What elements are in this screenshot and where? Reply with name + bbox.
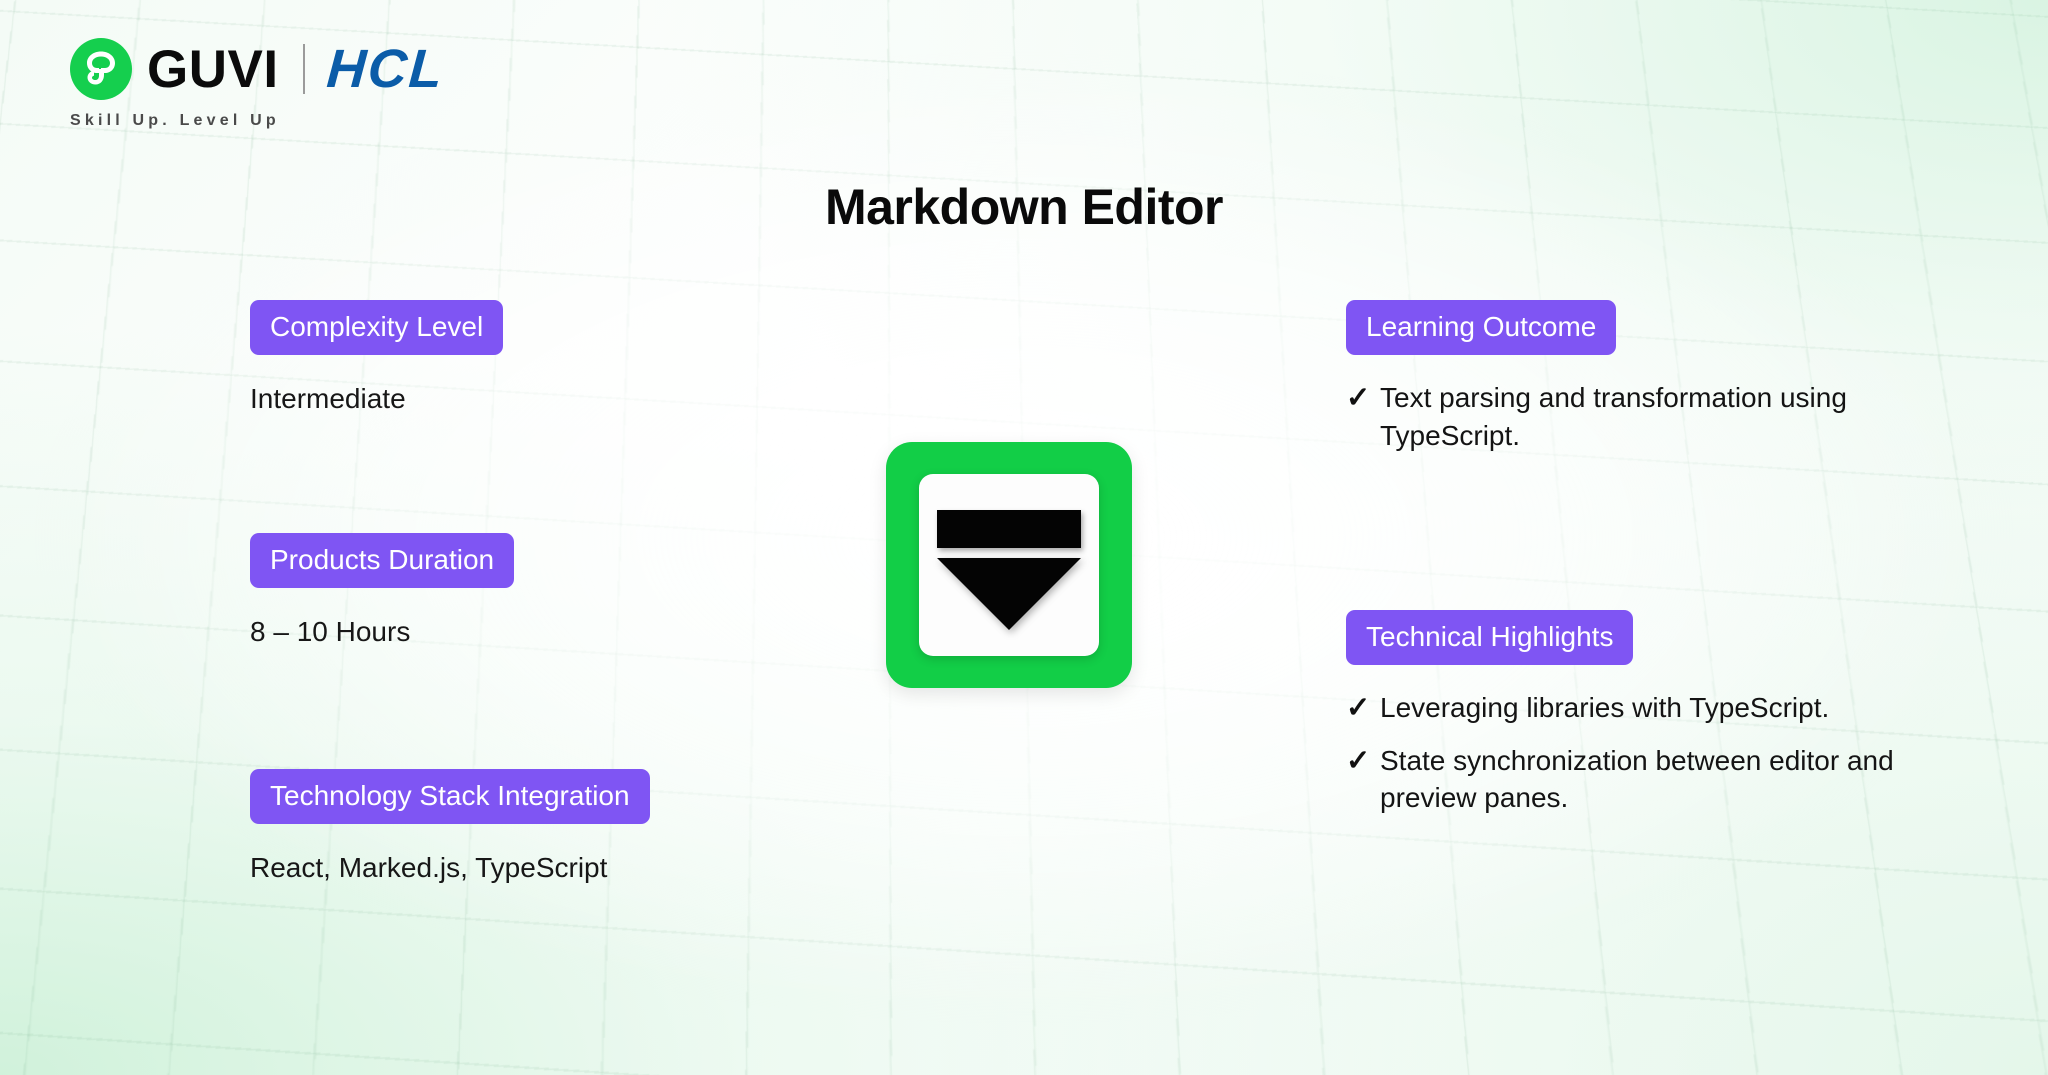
brand-row: GUVI HCL [70,38,444,100]
list-technical-highlights: ✓ Leveraging libraries with TypeScript. … [1346,689,1986,816]
badge-technical-highlights: Technical Highlights [1346,610,1633,665]
download-triangle-shape [937,558,1081,630]
brand-divider [303,44,305,94]
list-item: ✓ Text parsing and transformation using … [1346,379,1986,453]
right-column: Learning Outcome ✓ Text parsing and tran… [1346,300,1986,832]
list-item-text: State synchronization between editor and… [1380,742,1940,816]
check-icon: ✓ [1346,742,1380,781]
spacer [250,418,870,533]
block-products-duration: Products Duration 8 – 10 Hours [250,533,870,651]
download-markdown-icon [886,442,1132,688]
value-complexity-level: Intermediate [250,381,870,417]
check-icon: ✓ [1346,689,1380,728]
badge-technology-stack-integration: Technology Stack Integration [250,769,650,824]
page-title: Markdown Editor [0,178,2048,236]
hcl-wordmark: HCL [325,42,446,96]
value-technology-stack-integration: React, Marked.js, TypeScript [250,850,870,886]
block-complexity-level: Complexity Level Intermediate [250,300,870,418]
block-technology-stack-integration: Technology Stack Integration React, Mark… [250,769,870,887]
slide-canvas: GUVI HCL Skill Up. Level Up Markdown Edi… [0,0,2048,1075]
spacer [250,651,870,769]
list-learning-outcome: ✓ Text parsing and transformation using … [1346,379,1986,453]
download-bar-shape [937,510,1081,548]
value-products-duration: 8 – 10 Hours [250,614,870,650]
list-item: ✓ State synchronization between editor a… [1346,742,1986,816]
brand-tagline: Skill Up. Level Up [70,112,444,130]
spacer [1346,470,1986,610]
list-item: ✓ Leveraging libraries with TypeScript. [1346,689,1986,728]
left-column: Complexity Level Intermediate Products D… [250,300,870,886]
check-icon: ✓ [1346,379,1380,418]
icon-inner-card [919,474,1099,656]
block-technical-highlights: Technical Highlights ✓ Leveraging librar… [1346,610,1986,816]
badge-complexity-level: Complexity Level [250,300,503,355]
brand-lockup: GUVI HCL Skill Up. Level Up [70,38,444,130]
badge-learning-outcome: Learning Outcome [1346,300,1616,355]
badge-products-duration: Products Duration [250,533,514,588]
list-item-text: Text parsing and transformation using Ty… [1380,379,1940,453]
guvi-circle-g-logo-icon [70,38,132,100]
block-learning-outcome: Learning Outcome ✓ Text parsing and tran… [1346,300,1986,454]
guvi-wordmark: GUVI [147,43,279,96]
list-item-text: Leveraging libraries with TypeScript. [1380,689,1829,726]
